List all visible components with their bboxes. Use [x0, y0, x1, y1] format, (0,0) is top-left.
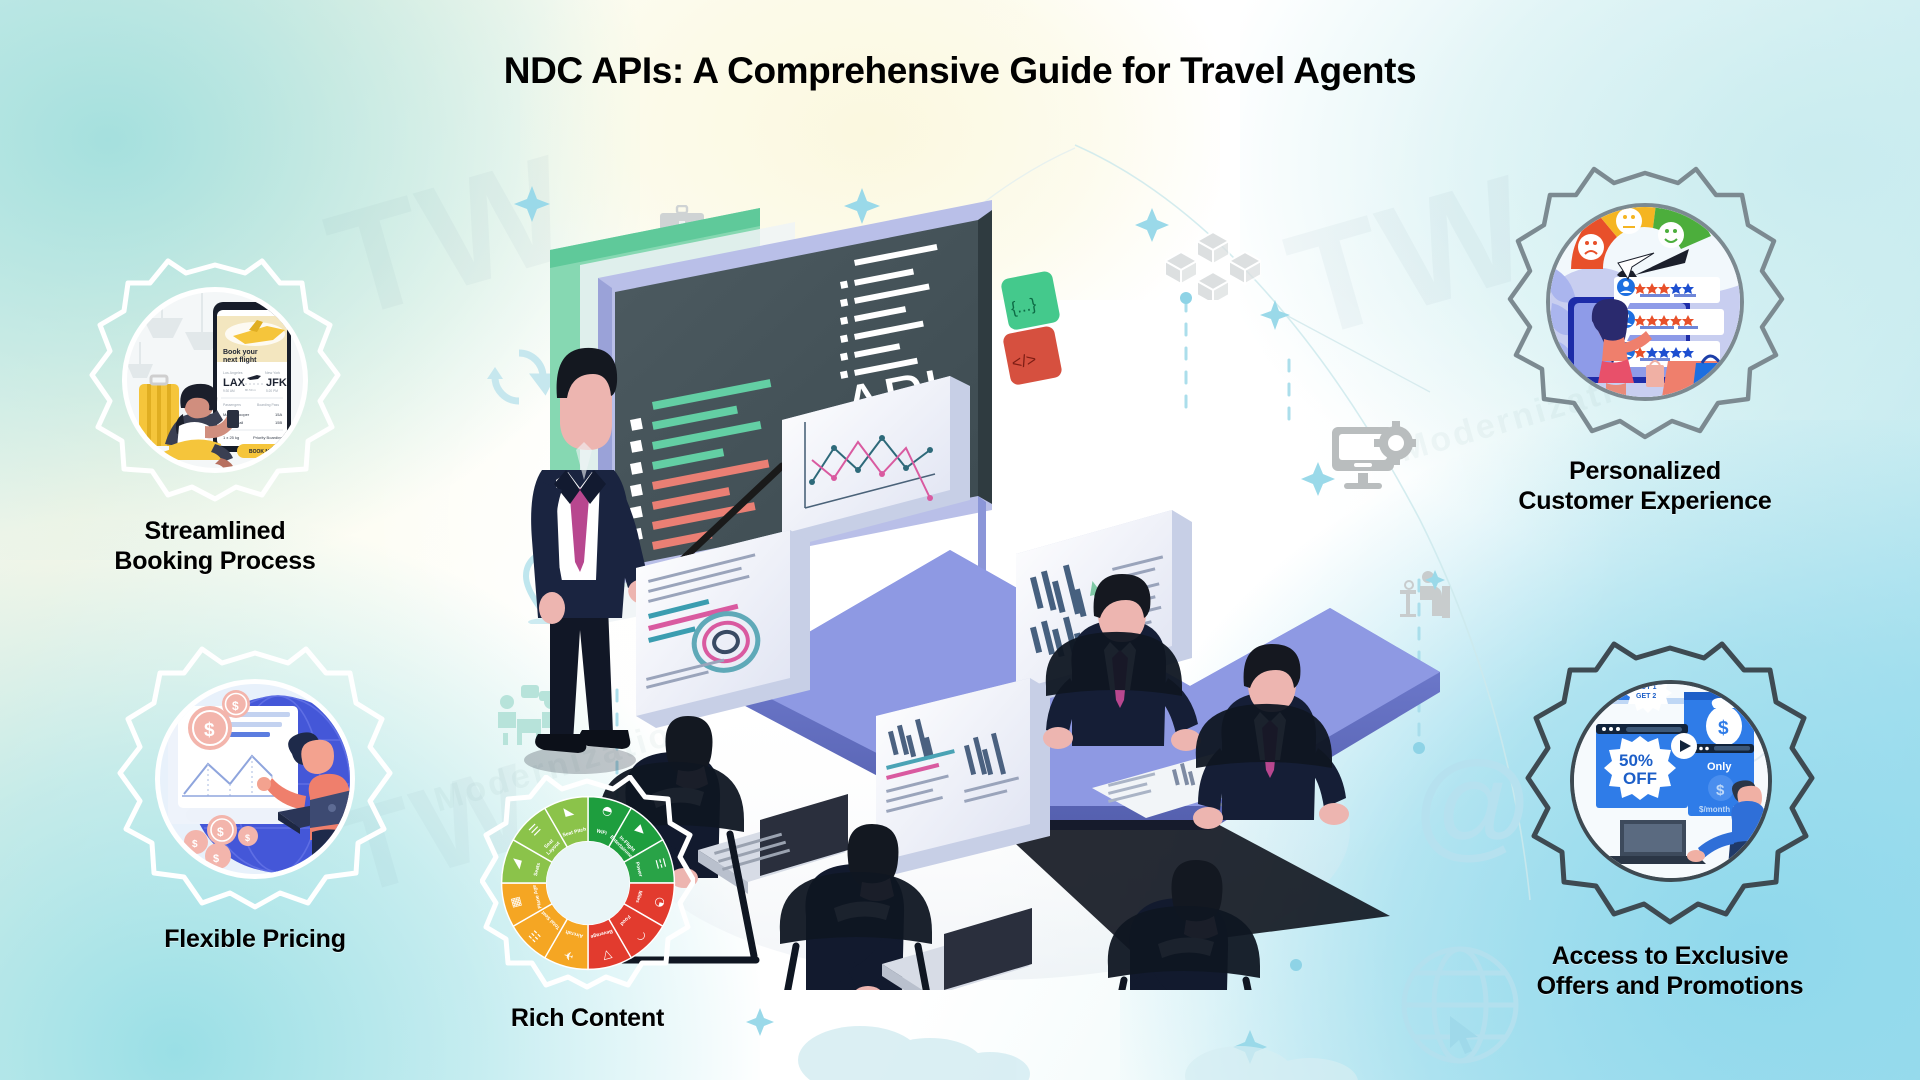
svg-text:BUY 1: BUY 1 — [1636, 684, 1657, 691]
svg-text:9:30 AM: 9:30 AM — [223, 389, 235, 393]
svg-text:$: $ — [213, 853, 219, 865]
svg-text:8h 50 m: 8h 50 m — [245, 388, 256, 392]
exclusive-offers-icon: BUY 1 GET 2 $ — [1570, 680, 1772, 882]
svg-text:next flight: next flight — [223, 357, 257, 364]
feature-caption-line2: Booking Process — [80, 547, 350, 577]
svg-text:Book your: Book your — [223, 349, 258, 356]
code-badge: </> — [1002, 325, 1063, 386]
rich-content-wheel-icon: ◓WiFi▶In-FlightEntertainment☲Power◔Miles… — [498, 793, 678, 973]
svg-text:$: $ — [204, 720, 215, 741]
svg-text:50%: 50% — [1619, 751, 1653, 770]
svg-text:$: $ — [232, 699, 239, 713]
svg-text:Priority Boarding: Priority Boarding — [253, 435, 283, 440]
feature-caption-line2: Offers and Promotions — [1520, 972, 1820, 1002]
feature-caption-line1: Personalized — [1500, 457, 1790, 487]
svg-text:1 x 25 kg: 1 x 25 kg — [223, 435, 239, 440]
svg-text:$: $ — [1716, 782, 1725, 799]
page-title: NDC APIs: A Comprehensive Guide for Trav… — [0, 50, 1920, 92]
personalized-experience-icon — [1546, 203, 1744, 401]
svg-text:LAX: LAX — [223, 377, 246, 389]
svg-text:15A: 15A — [275, 412, 282, 417]
feature-caption-line1: Access to Exclusive — [1520, 942, 1820, 972]
svg-text:Boarding Pass: Boarding Pass — [257, 403, 279, 407]
streamlined-booking-icon: Book your next flight Los Angeles LAX 9:… — [122, 287, 308, 473]
json-badge: {...} — [1000, 270, 1061, 331]
svg-text:Only: Only — [1707, 761, 1732, 773]
feature-caption-line1: Rich Content — [480, 1004, 695, 1034]
cursor-arrow-icon — [1448, 1014, 1482, 1058]
svg-text:GET 2: GET 2 — [1636, 693, 1656, 700]
svg-text:5:20 PM: 5:20 PM — [266, 389, 278, 393]
feature-access-exclusive-offers[interactable]: BUY 1 GET 2 $ — [1520, 640, 1820, 1001]
svg-text:$: $ — [217, 825, 224, 839]
feature-streamlined-booking-process[interactable]: Book your next flight Los Angeles LAX 9:… — [80, 255, 350, 576]
svg-text:$: $ — [1718, 718, 1729, 739]
svg-text:JFK: JFK — [266, 377, 287, 389]
svg-text:15B: 15B — [275, 420, 282, 425]
feature-caption-line1: Streamlined — [80, 517, 350, 547]
feature-caption-line2: Customer Experience — [1500, 487, 1790, 517]
svg-text:Passengers: Passengers — [223, 403, 241, 407]
cloud-icon — [790, 1000, 1030, 1080]
infographic-canvas: TW TW TW Modernization Modernization — [0, 0, 1920, 1080]
svg-text:OFF: OFF — [1623, 769, 1657, 788]
feature-flexible-pricing[interactable]: $ $ $ $ $ $ — [110, 645, 400, 955]
svg-text:Los Angeles: Los Angeles — [223, 371, 243, 375]
feature-personalized-customer-experience[interactable]: Personalized Customer Experience — [1500, 165, 1790, 516]
cloud-icon-right — [1180, 1020, 1380, 1080]
svg-text:$: $ — [192, 839, 198, 850]
feature-rich-content[interactable]: ◓WiFi▶In-FlightEntertainment☲Power◔Miles… — [480, 775, 695, 1034]
feature-caption-line1: Flexible Pricing — [110, 925, 400, 955]
svg-text:$: $ — [245, 833, 250, 843]
svg-text:New York: New York — [265, 371, 280, 375]
flexible-pricing-icon: $ $ $ $ $ $ — [155, 679, 355, 879]
